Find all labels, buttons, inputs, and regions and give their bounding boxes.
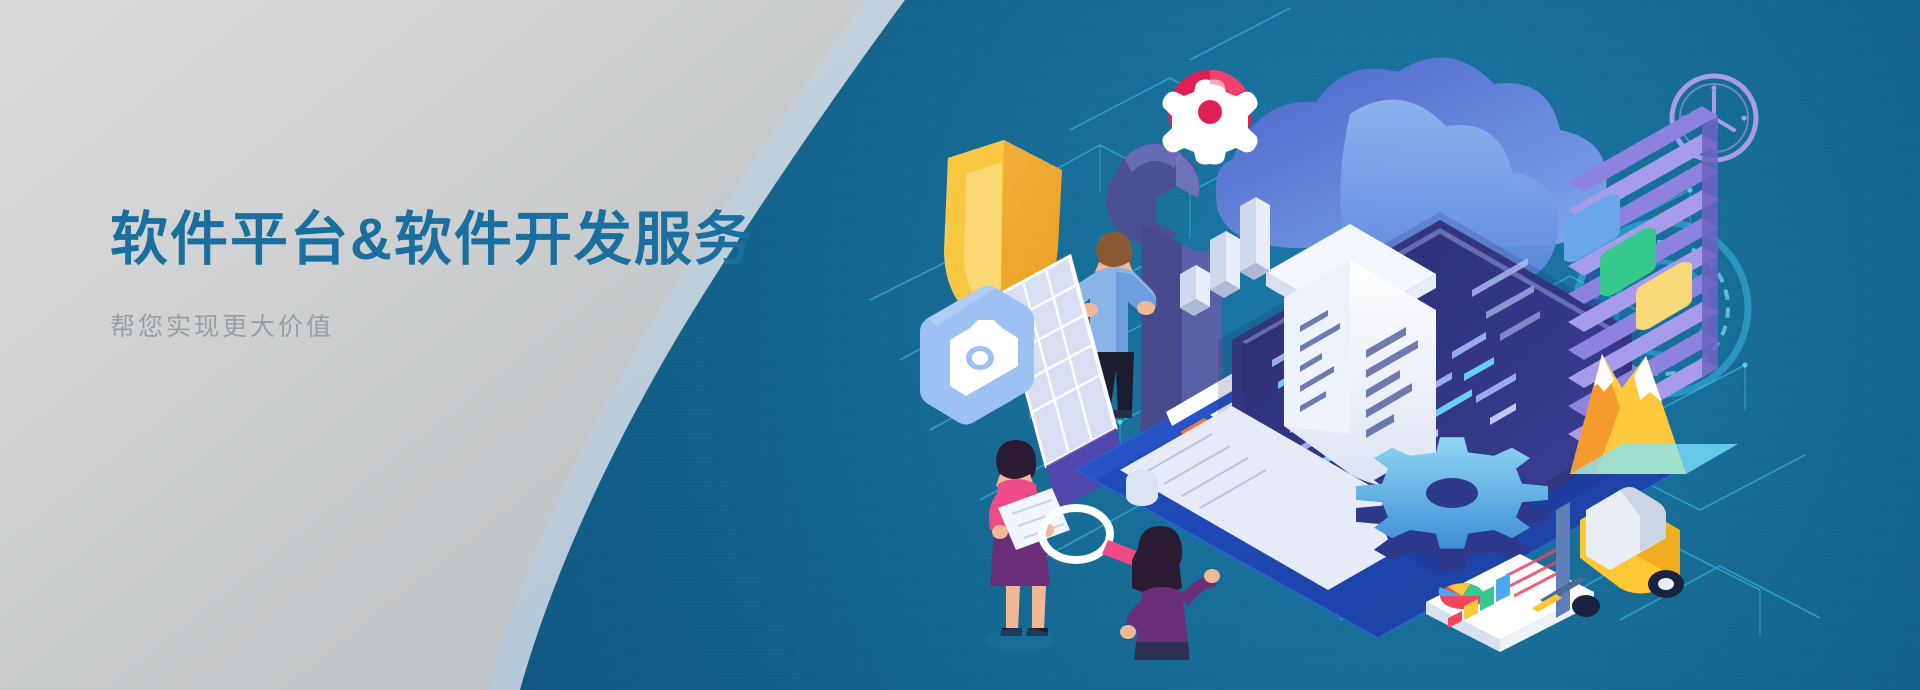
- page-title: 软件平台&软件开发服务: [110, 206, 870, 273]
- big-gear-icon: [1356, 437, 1548, 570]
- hero-banner: 软件平台&软件开发服务 帮您实现更大价值: [0, 0, 1920, 690]
- illustration-container: [880, 40, 1920, 660]
- analyst-person-purple: [1120, 526, 1220, 660]
- gear-badge-icon: [1162, 70, 1257, 165]
- camera-badge-icon: [920, 286, 1034, 425]
- page-subtitle: 帮您实现更大价值: [110, 307, 870, 343]
- hero-copy: 软件平台&软件开发服务 帮您实现更大价值: [110, 206, 870, 343]
